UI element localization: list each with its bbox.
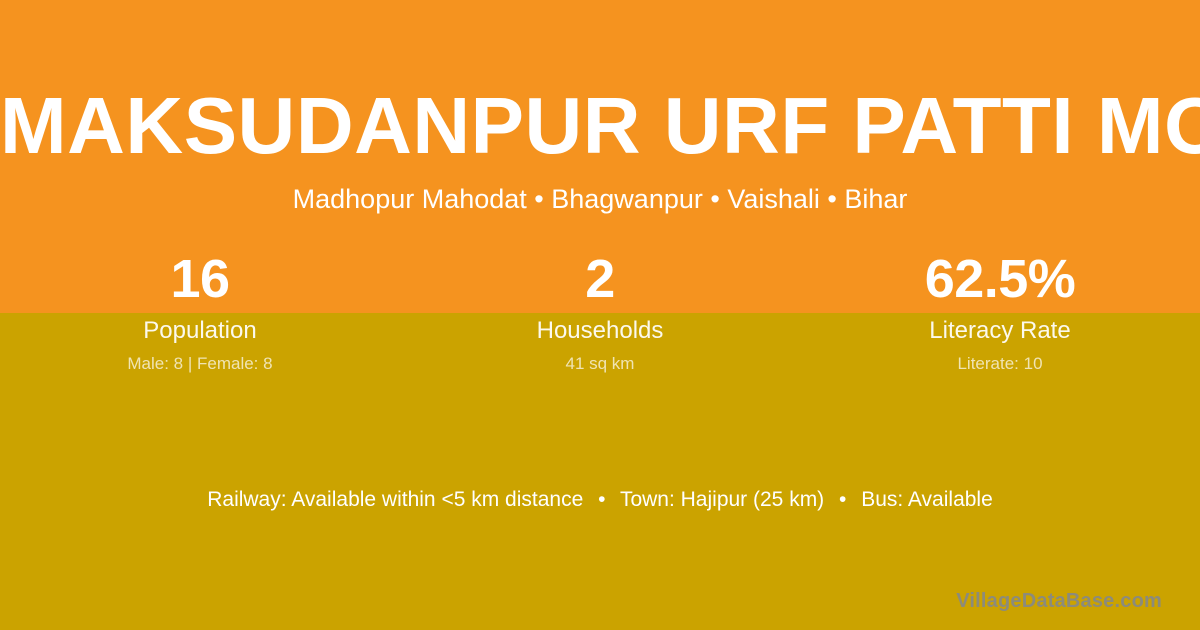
page-title: MAKSUDANPUR URF PATTI MOTALI (0, 80, 1200, 172)
info-bus: Bus: Available (861, 488, 993, 511)
stat-literacy-value: 62.5% (800, 245, 1200, 313)
info-separator-dot: • (830, 484, 855, 516)
stat-population-value: 16 (0, 245, 400, 313)
info-town: Town: Hajipur (25 km) (620, 488, 824, 511)
stat-households-area: 41 sq km (400, 353, 800, 375)
location-breadcrumb: Madhopur Mahodat • Bhagwanpur • Vaishali… (0, 180, 1200, 218)
stat-households-label: Households (400, 316, 800, 346)
site-watermark: VillageDataBase.com (956, 588, 1162, 614)
info-separator-dot: • (589, 484, 614, 516)
connectivity-info: Railway: Available within <5 km distance… (0, 484, 1200, 516)
stats-row: 16 Population Male: 8 | Female: 8 2 Hous… (0, 245, 1200, 385)
stat-households: 2 Households 41 sq km (400, 245, 800, 385)
stat-literacy-count: Literate: 10 (800, 353, 1200, 375)
stat-population-label: Population (0, 316, 400, 346)
info-railway: Railway: Available within <5 km distance (207, 488, 583, 511)
stat-population: 16 Population Male: 8 | Female: 8 (0, 245, 400, 385)
stat-literacy-label: Literacy Rate (800, 316, 1200, 346)
stat-households-value: 2 (400, 245, 800, 313)
stat-population-breakdown: Male: 8 | Female: 8 (0, 353, 400, 375)
village-info-card: MAKSUDANPUR URF PATTI MOTALI Madhopur Ma… (0, 0, 1200, 630)
stat-literacy: 62.5% Literacy Rate Literate: 10 (800, 245, 1200, 385)
